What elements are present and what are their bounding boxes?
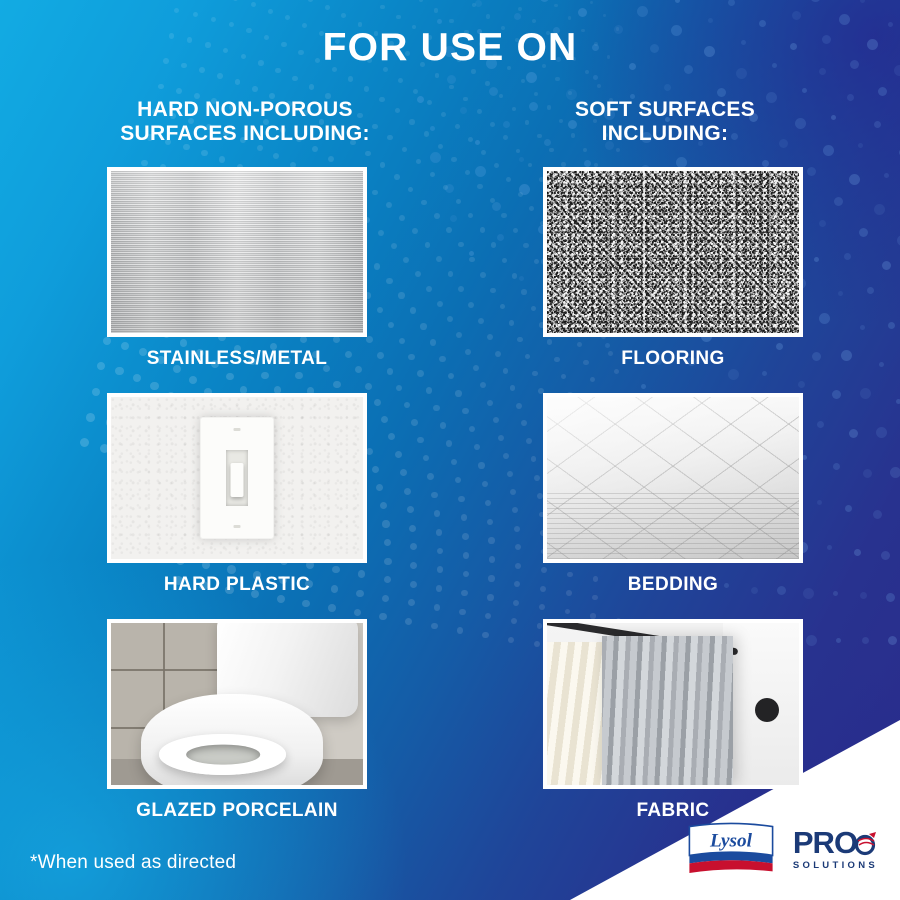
photo-frame-bedding <box>543 393 803 563</box>
photo-frame-stainless <box>107 167 367 337</box>
switch-screw-bottom <box>234 525 241 528</box>
photo-frame-flooring <box>543 167 803 337</box>
surface-card-fabric: FABRIC <box>543 619 803 822</box>
image-curtains <box>547 623 799 785</box>
photo-frame-hard-plastic <box>107 393 367 563</box>
column-heading-hard-line2: SURFACES INCLUDING: <box>40 122 450 146</box>
column-heading-hard-line1: HARD NON-POROUS <box>40 98 450 122</box>
pro-globe-icon <box>855 830 877 856</box>
image-carpet <box>547 171 799 333</box>
photo-frame-fabric <box>543 619 803 789</box>
surface-card-flooring: FLOORING <box>543 167 803 370</box>
column-heading-soft: SOFT SURFACES INCLUDING: <box>470 98 860 145</box>
logo-group: Lysol PRO SOLUTIONS <box>683 820 878 878</box>
caption-glazed-porcelain: GLAZED PORCELAIN <box>107 800 367 822</box>
image-light-switch <box>111 397 363 559</box>
column-heading-soft-line1: SOFT SURFACES <box>470 98 860 122</box>
column-heading-soft-line2: INCLUDING: <box>470 122 860 146</box>
lysol-logo: Lysol <box>683 820 779 878</box>
surface-card-bedding: BEDDING <box>543 393 803 596</box>
surface-card-hard-plastic: HARD PLASTIC <box>107 393 367 596</box>
caption-stainless: STAINLESS/METAL <box>107 348 367 370</box>
toilet-bowl <box>141 694 322 785</box>
grey-curtain <box>602 636 733 785</box>
image-toilet <box>111 623 363 785</box>
pro-subwordmark: SOLUTIONS <box>793 861 878 871</box>
curtain-rod-finial <box>755 698 779 722</box>
toilet-bowl-opening <box>186 744 260 765</box>
image-mattress <box>547 397 799 559</box>
caption-hard-plastic: HARD PLASTIC <box>107 574 367 596</box>
caption-fabric: FABRIC <box>543 800 803 822</box>
mattress-shading <box>547 397 799 559</box>
pro-wordmark-row: PRO <box>793 827 877 858</box>
photo-frame-glazed-porcelain <box>107 619 367 789</box>
surface-card-stainless: STAINLESS/METAL <box>107 167 367 370</box>
page-title: FOR USE ON <box>0 26 900 70</box>
caption-flooring: FLOORING <box>543 348 803 370</box>
toilet-seat <box>159 734 286 774</box>
footnote: *When used as directed <box>30 852 236 874</box>
switch-screw-top <box>234 428 241 431</box>
image-stainless-steel <box>111 171 363 333</box>
light-switch-plate <box>200 417 274 539</box>
switch-toggle <box>231 463 244 497</box>
pro-wordmark: PRO <box>793 827 857 858</box>
caption-bedding: BEDDING <box>543 574 803 596</box>
svg-text:Lysol: Lysol <box>709 831 753 852</box>
surface-card-glazed-porcelain: GLAZED PORCELAIN <box>107 619 367 822</box>
pro-solutions-logo: PRO SOLUTIONS <box>793 827 878 871</box>
column-heading-hard: HARD NON-POROUS SURFACES INCLUDING: <box>40 98 450 145</box>
